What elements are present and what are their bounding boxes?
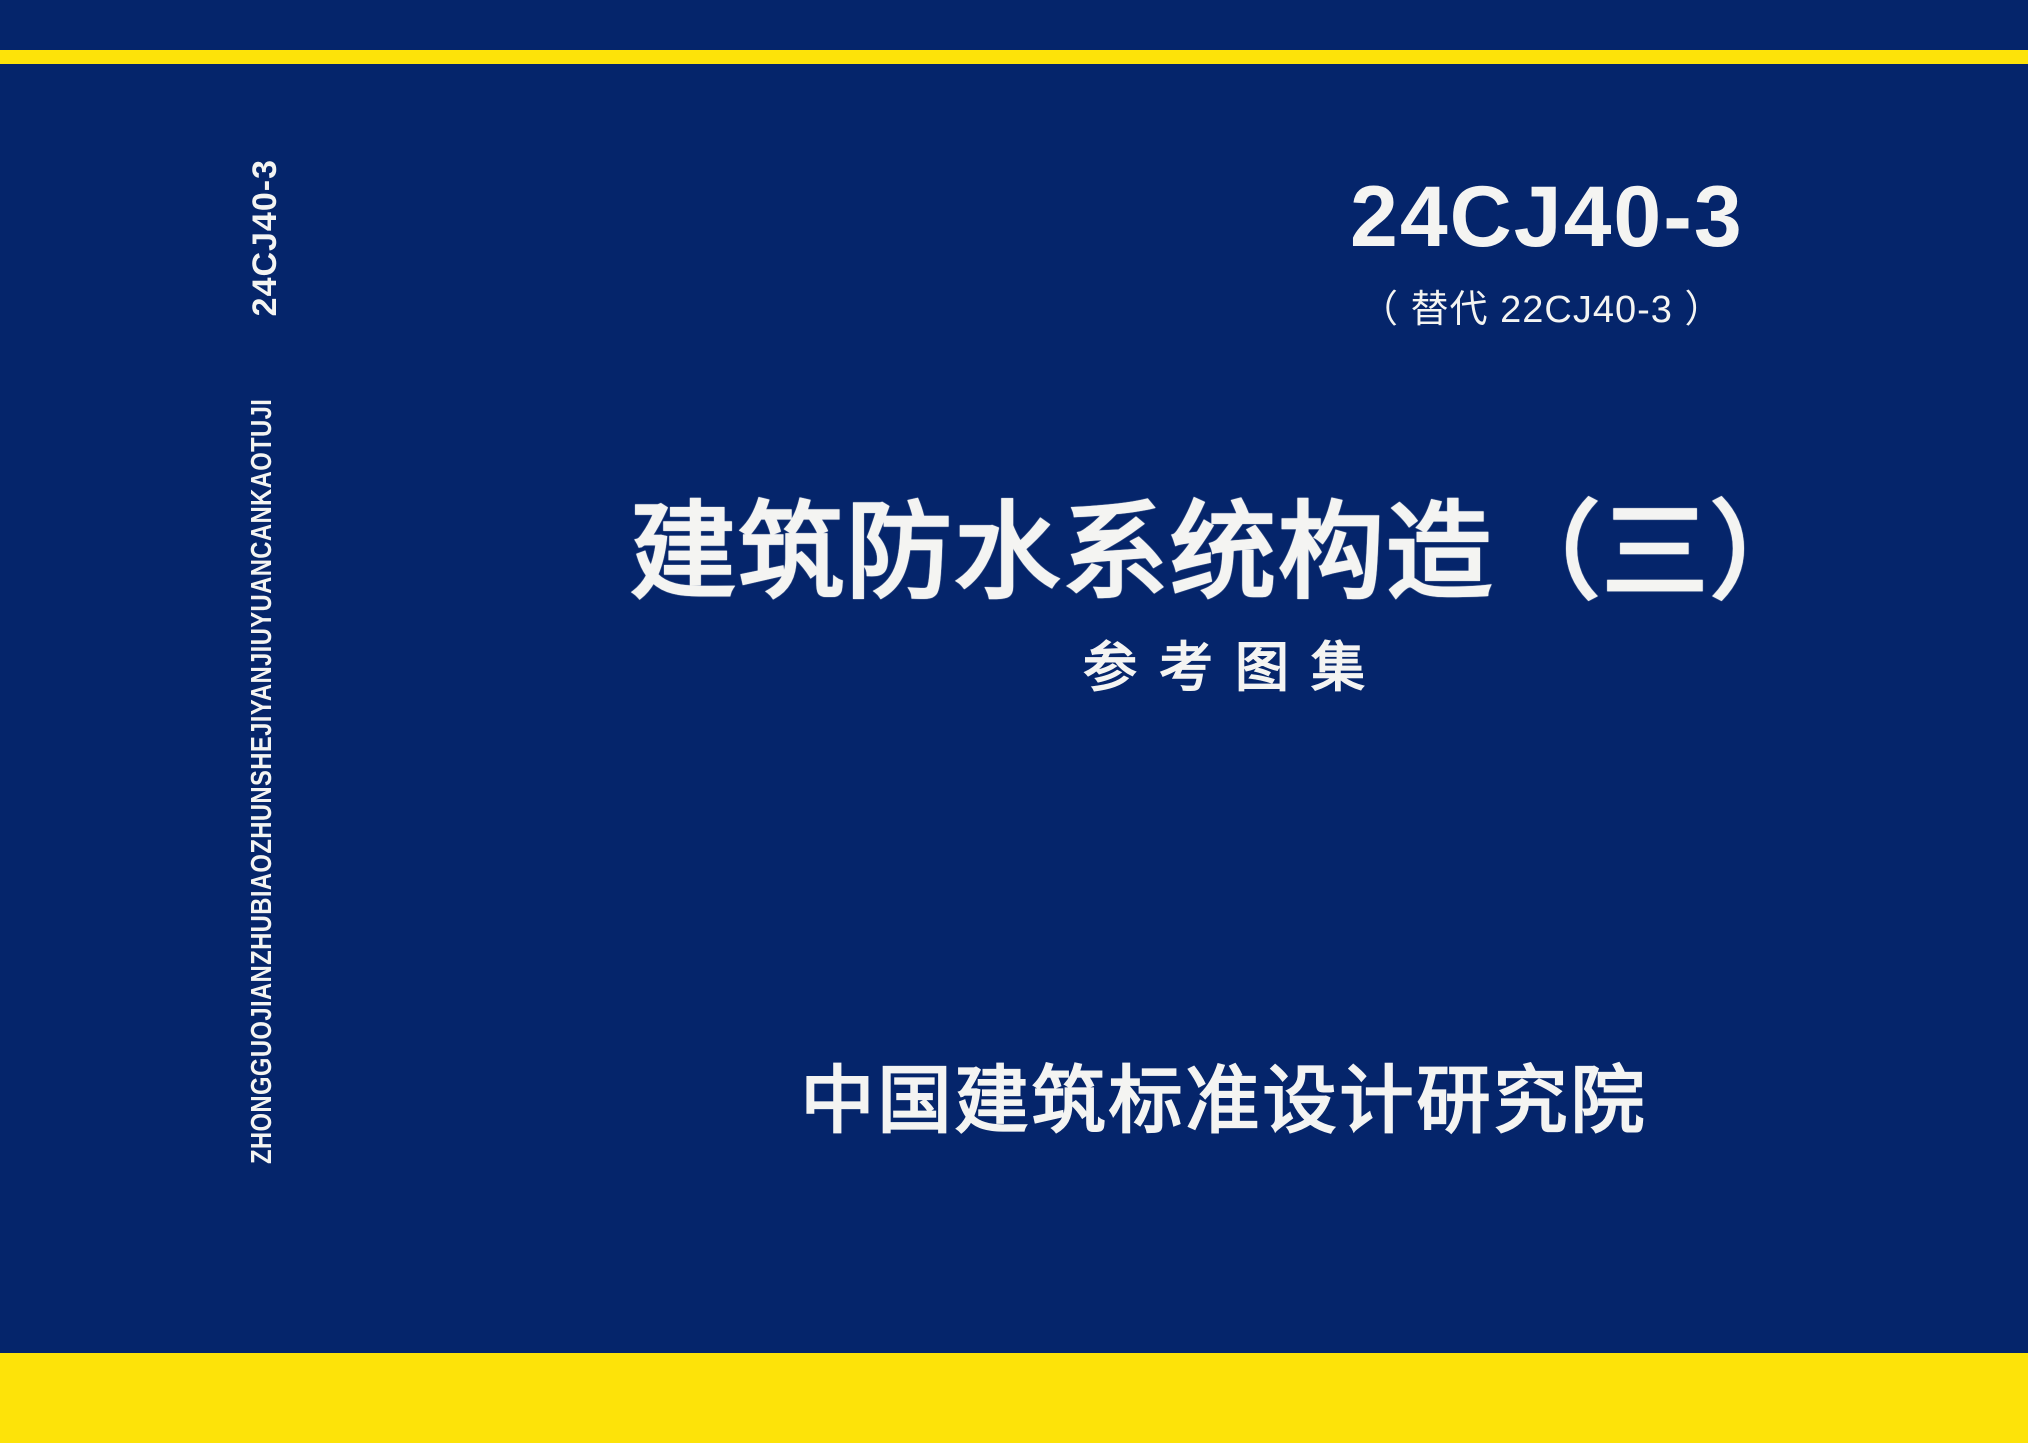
spine-pinyin-label: ZHONGGUOJIANZHUBIAOZHUNSHEJIYANJIUYUANCA… — [246, 231, 279, 1164]
publisher-name: 中国建筑标准设计研究院 — [420, 1064, 2028, 1138]
bottom-yellow-band — [0, 1353, 2028, 1443]
atlas-replaces-note: （ 替代 22CJ40-3 ） — [1360, 291, 1723, 329]
spine-panel: 24CJ40-3 ZHONGGUOJIANZHUBIAOZHUNSHEJIYAN… — [0, 64, 420, 1353]
page-title: 建筑防水系统构造（三） — [420, 494, 2028, 613]
page-subtitle: 参考图集 — [420, 640, 2028, 694]
spine-pinyin-text: ZHONGGUOJIANZHUBIAOZHUNSHEJIYANJIUYUANCA… — [246, 399, 279, 1164]
atlas-code: 24CJ40-3 — [1350, 174, 1744, 260]
front-face: 24CJ40-3 （ 替代 22CJ40-3 ） 建筑防水系统构造（三） 参考图… — [420, 64, 2028, 1353]
top-yellow-band — [0, 50, 2028, 64]
book-cover: 24CJ40-3 ZHONGGUOJIANZHUBIAOZHUNSHEJIYAN… — [0, 0, 2028, 1443]
